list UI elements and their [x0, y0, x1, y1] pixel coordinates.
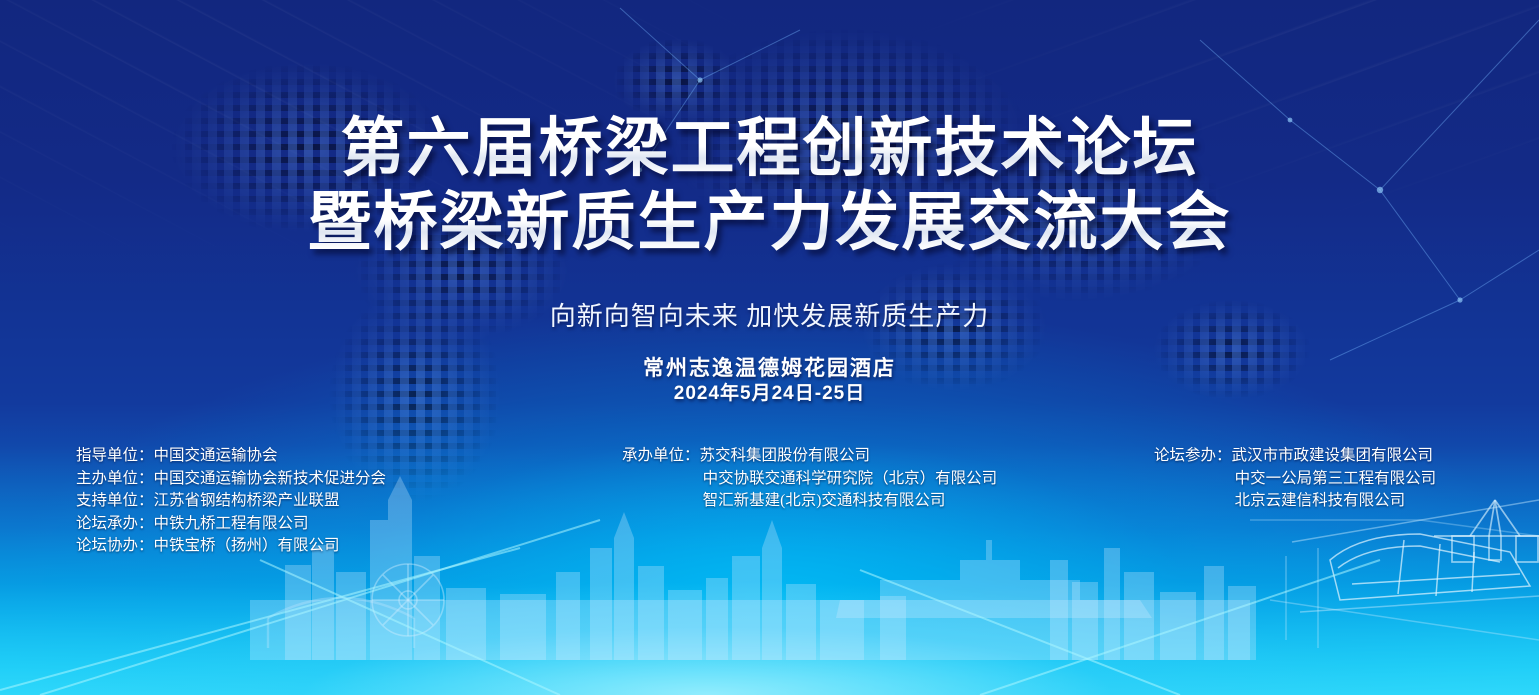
credits-left-column: 指导单位：中国交通运输协会 主办单位：中国交通运输协会新技术促进分会 支持单位：… — [76, 445, 386, 558]
credit-line: 中交协联交通科学研究院（北京）有限公司 — [622, 468, 997, 491]
credit-line: 智汇新基建(北京)交通科技有限公司 — [622, 490, 997, 513]
page-title: 第六届桥梁工程创新技术论坛 暨桥梁新质生产力发展交流大会 — [0, 112, 1539, 260]
credit-line: 北京云建信科技有限公司 — [1154, 490, 1436, 513]
event-dates: 2024年5月24日-25日 — [0, 378, 1539, 405]
subtitle: 向新向智向未来 加快发展新质生产力 — [0, 296, 1539, 333]
credits-row: 指导单位：中国交通运输协会 主办单位：中国交通运输协会新技术促进分会 支持单位：… — [0, 445, 1539, 565]
credit-line: 主办单位：中国交通运输协会新技术促进分会 — [76, 468, 386, 491]
credit-line: 支持单位：江苏省钢结构桥梁产业联盟 — [76, 490, 386, 513]
credits-right-column: 论坛参办：武汉市市政建设集团有限公司 中交一公局第三工程有限公司 北京云建信科技… — [1154, 445, 1436, 513]
credit-line: 论坛参办：武汉市市政建设集团有限公司 — [1154, 445, 1436, 468]
conference-banner: 第六届桥梁工程创新技术论坛 暨桥梁新质生产力发展交流大会 向新向智向未来 加快发… — [0, 0, 1539, 695]
credits-middle-column: 承办单位：苏交科集团股份有限公司 中交协联交通科学研究院（北京）有限公司 智汇新… — [622, 445, 997, 513]
credit-line: 论坛协办：中铁宝桥（扬州）有限公司 — [76, 535, 386, 558]
title-line-1: 第六届桥梁工程创新技术论坛 — [0, 112, 1539, 186]
credit-line: 承办单位：苏交科集团股份有限公司 — [622, 445, 997, 468]
credit-line: 指导单位：中国交通运输协会 — [76, 445, 386, 468]
ferris-wheel-icon — [372, 564, 444, 636]
credit-line: 中交一公局第三工程有限公司 — [1154, 468, 1436, 491]
background-scenery — [0, 0, 1539, 695]
title-line-2: 暨桥梁新质生产力发展交流大会 — [0, 186, 1539, 260]
credit-line: 论坛承办：中铁九桥工程有限公司 — [76, 513, 386, 536]
